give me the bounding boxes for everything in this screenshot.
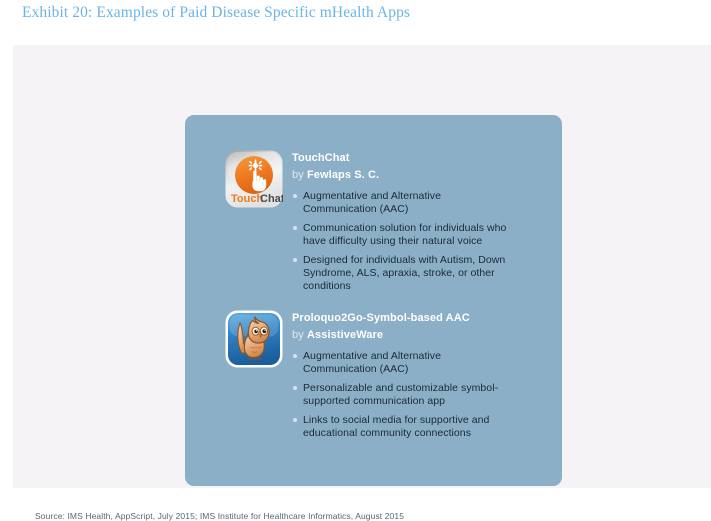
- app-developer: by Fewlaps S. C.: [292, 168, 515, 183]
- app-info-touchchat: TouchChat by Fewlaps S. C. Augmentative …: [292, 150, 515, 299]
- source-note: Source: IMS Health, AppScript, July 2015…: [35, 511, 404, 521]
- app-developer: by AssistiveWare: [292, 328, 515, 343]
- app-feature-list: Augmentative and Alternative Communicati…: [292, 190, 515, 293]
- list-item: Augmentative and Alternative Communicati…: [292, 350, 515, 376]
- apps-panel: Touch Chat TouchChat by Fewlaps S. C. Au…: [185, 115, 562, 486]
- app-entry-touchchat[interactable]: Touch Chat TouchChat by Fewlaps S. C. Au…: [225, 150, 515, 299]
- touchchat-app-icon[interactable]: Touch Chat: [225, 150, 283, 208]
- app-feature-list: Augmentative and Alternative Communicati…: [292, 350, 515, 440]
- list-item: Personalizable and customizable symbol-s…: [292, 382, 515, 408]
- app-info-proloquo2go: Proloquo2Go-Symbol-based AAC by Assistiv…: [292, 310, 515, 446]
- app-developer-name: AssistiveWare: [307, 329, 383, 341]
- app-name: Proloquo2Go-Symbol-based AAC: [292, 311, 515, 325]
- proloquo2go-app-icon[interactable]: [225, 310, 283, 368]
- list-item: Communication solution for individuals w…: [292, 222, 515, 248]
- exhibit-content-card: Touch Chat TouchChat by Fewlaps S. C. Au…: [13, 45, 711, 488]
- app-entry-proloquo2go[interactable]: Proloquo2Go-Symbol-based AAC by Assistiv…: [225, 310, 515, 446]
- list-item: Designed for individuals with Autism, Do…: [292, 254, 515, 293]
- touchchat-wordmark-primary: Touch: [231, 193, 263, 205]
- app-developer-prefix: by: [292, 169, 307, 181]
- app-developer-name: Fewlaps S. C.: [307, 169, 379, 181]
- touchchat-wordmark-secondary: Chat: [260, 193, 283, 205]
- page-title: Exhibit 20: Examples of Paid Disease Spe…: [22, 4, 410, 22]
- list-item: Augmentative and Alternative Communicati…: [292, 190, 515, 216]
- app-developer-prefix: by: [292, 329, 307, 341]
- app-name: TouchChat: [292, 151, 515, 165]
- list-item: Links to social media for supportive and…: [292, 414, 515, 440]
